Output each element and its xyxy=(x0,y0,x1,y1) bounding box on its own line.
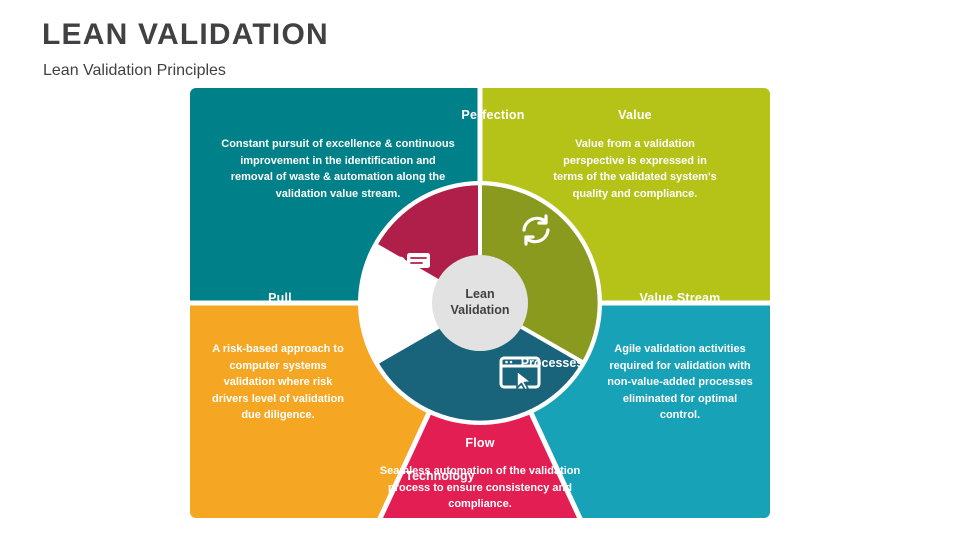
inner-label-technology: Technology xyxy=(385,469,495,483)
segment-body-value-stream: Agile validation activities required for… xyxy=(605,341,755,424)
lean-validation-diagram: Perfection Constant pursuit of excellenc… xyxy=(190,88,770,518)
center-label-line2: Validation xyxy=(430,302,530,318)
center-label-line1: Lean xyxy=(430,286,530,302)
segment-label-value-stream: Value Stream xyxy=(590,291,770,305)
segment-body-value: Value from a validation perspective is e… xyxy=(550,136,720,202)
segment-body-pull: A risk-based approach to computer system… xyxy=(204,341,352,424)
center-label: Lean Validation xyxy=(430,286,530,318)
page-subtitle: Lean Validation Principles xyxy=(43,62,226,80)
inner-label-people: People xyxy=(365,316,461,330)
slide-canvas: LEAN VALIDATION Lean Validation Principl… xyxy=(0,0,960,540)
inner-label-processes: Processes xyxy=(502,356,602,370)
segment-body-perfection: Constant pursuit of excellence & continu… xyxy=(218,136,458,202)
page-title: LEAN VALIDATION xyxy=(42,18,329,52)
segment-label-value: Value xyxy=(550,108,720,122)
segment-label-flow: Flow xyxy=(390,436,570,450)
segment-label-pull: Pull xyxy=(190,291,370,305)
